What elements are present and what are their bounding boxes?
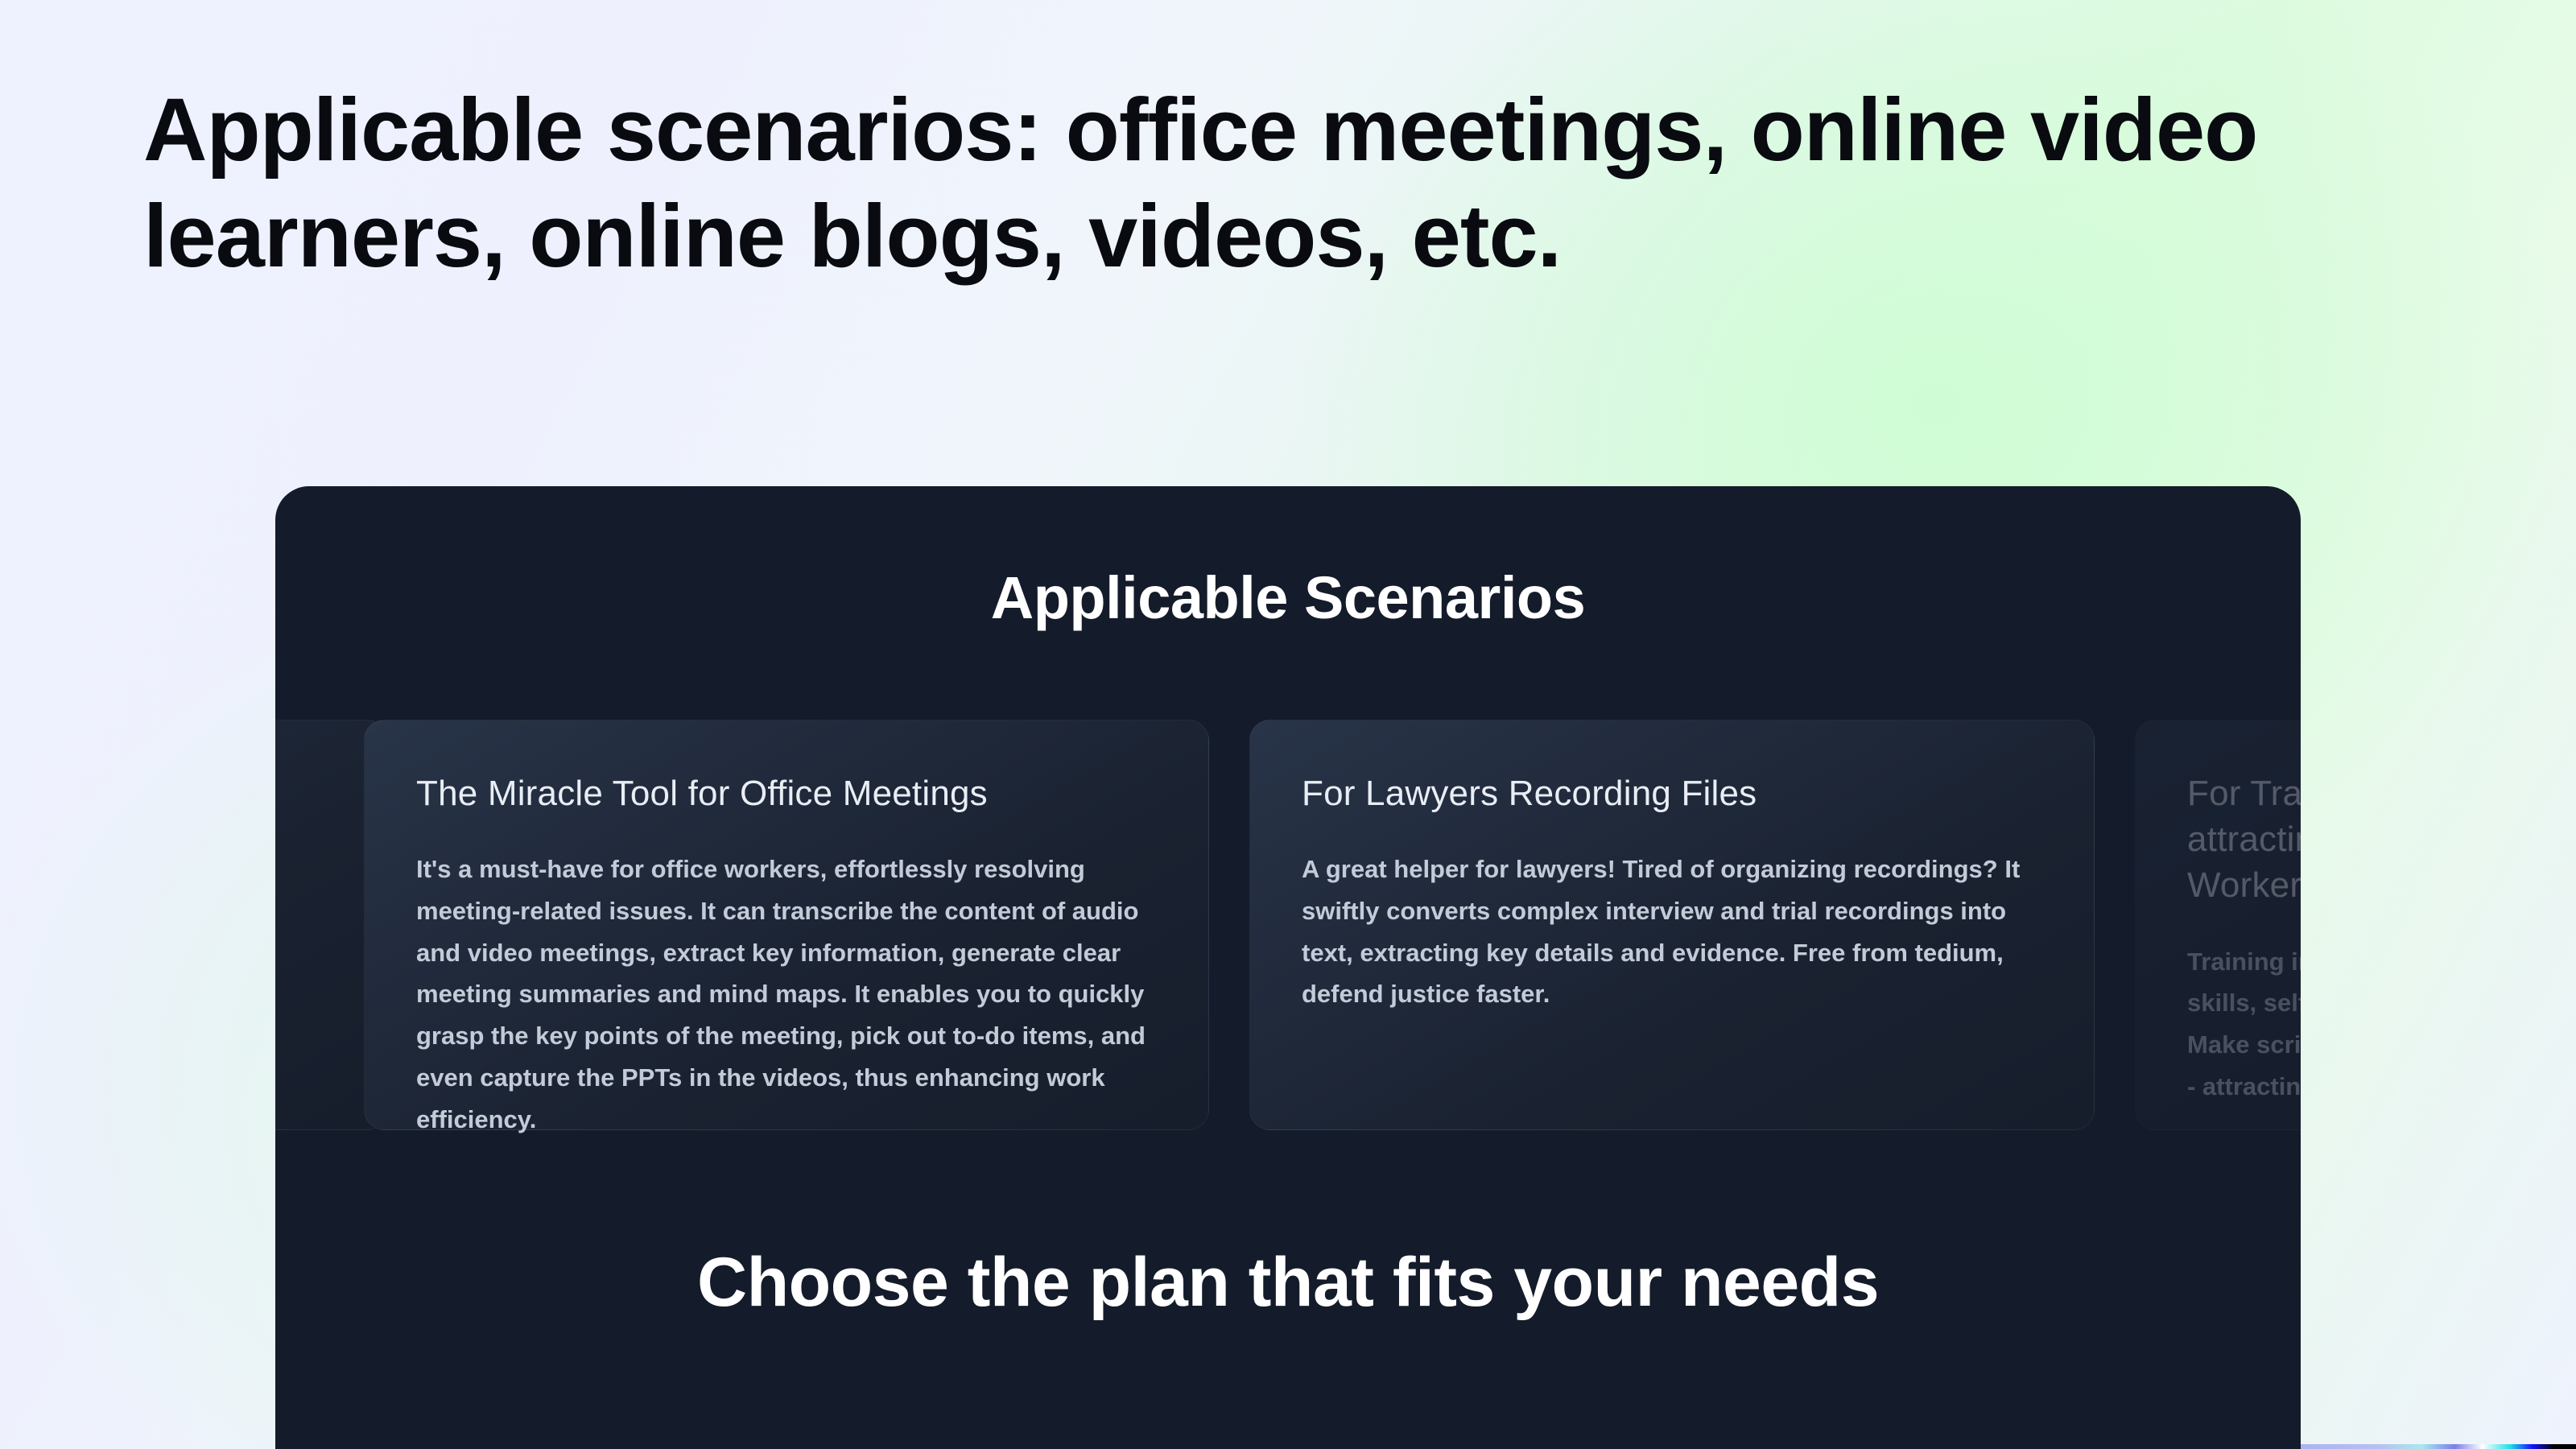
scenario-card-office-meetings[interactable]: The Miracle Tool for Office Meetings It'… xyxy=(364,720,1209,1130)
choose-plan-heading: Choose the plan that fits your needs xyxy=(275,1243,2301,1323)
scenario-card-traffic-workers[interactable]: For Traffic - attracting Workers Trainin… xyxy=(2135,720,2301,1130)
scenario-card-body: A great helper for lawyers! Tired of org… xyxy=(1302,848,2042,1015)
scenario-card-lawyers[interactable]: For Lawyers Recording Files A great help… xyxy=(1249,720,2095,1130)
scenario-card-title: For Lawyers Recording Files xyxy=(1302,770,2042,816)
scenario-card-title: The Miracle Tool for Office Meetings xyxy=(416,770,1157,816)
scenario-carousel[interactable]: The Miracle Tool for Office Meetings It'… xyxy=(275,720,2301,1130)
page-title: Applicable scenarios: office meetings, o… xyxy=(143,77,2542,290)
applicable-scenarios-title: Applicable Scenarios xyxy=(275,563,2301,632)
bottom-edge-artifact xyxy=(2301,1444,2576,1449)
scenario-card-body: Training in creation skills, self - medi… xyxy=(2187,941,2301,1108)
scenario-card-title: For Traffic - attracting Workers xyxy=(2187,770,2301,909)
product-preview-panel: Applicable Scenarios The Miracle Tool fo… xyxy=(275,486,2301,1449)
scenario-card-body: It's a must-have for office workers, eff… xyxy=(416,848,1157,1140)
